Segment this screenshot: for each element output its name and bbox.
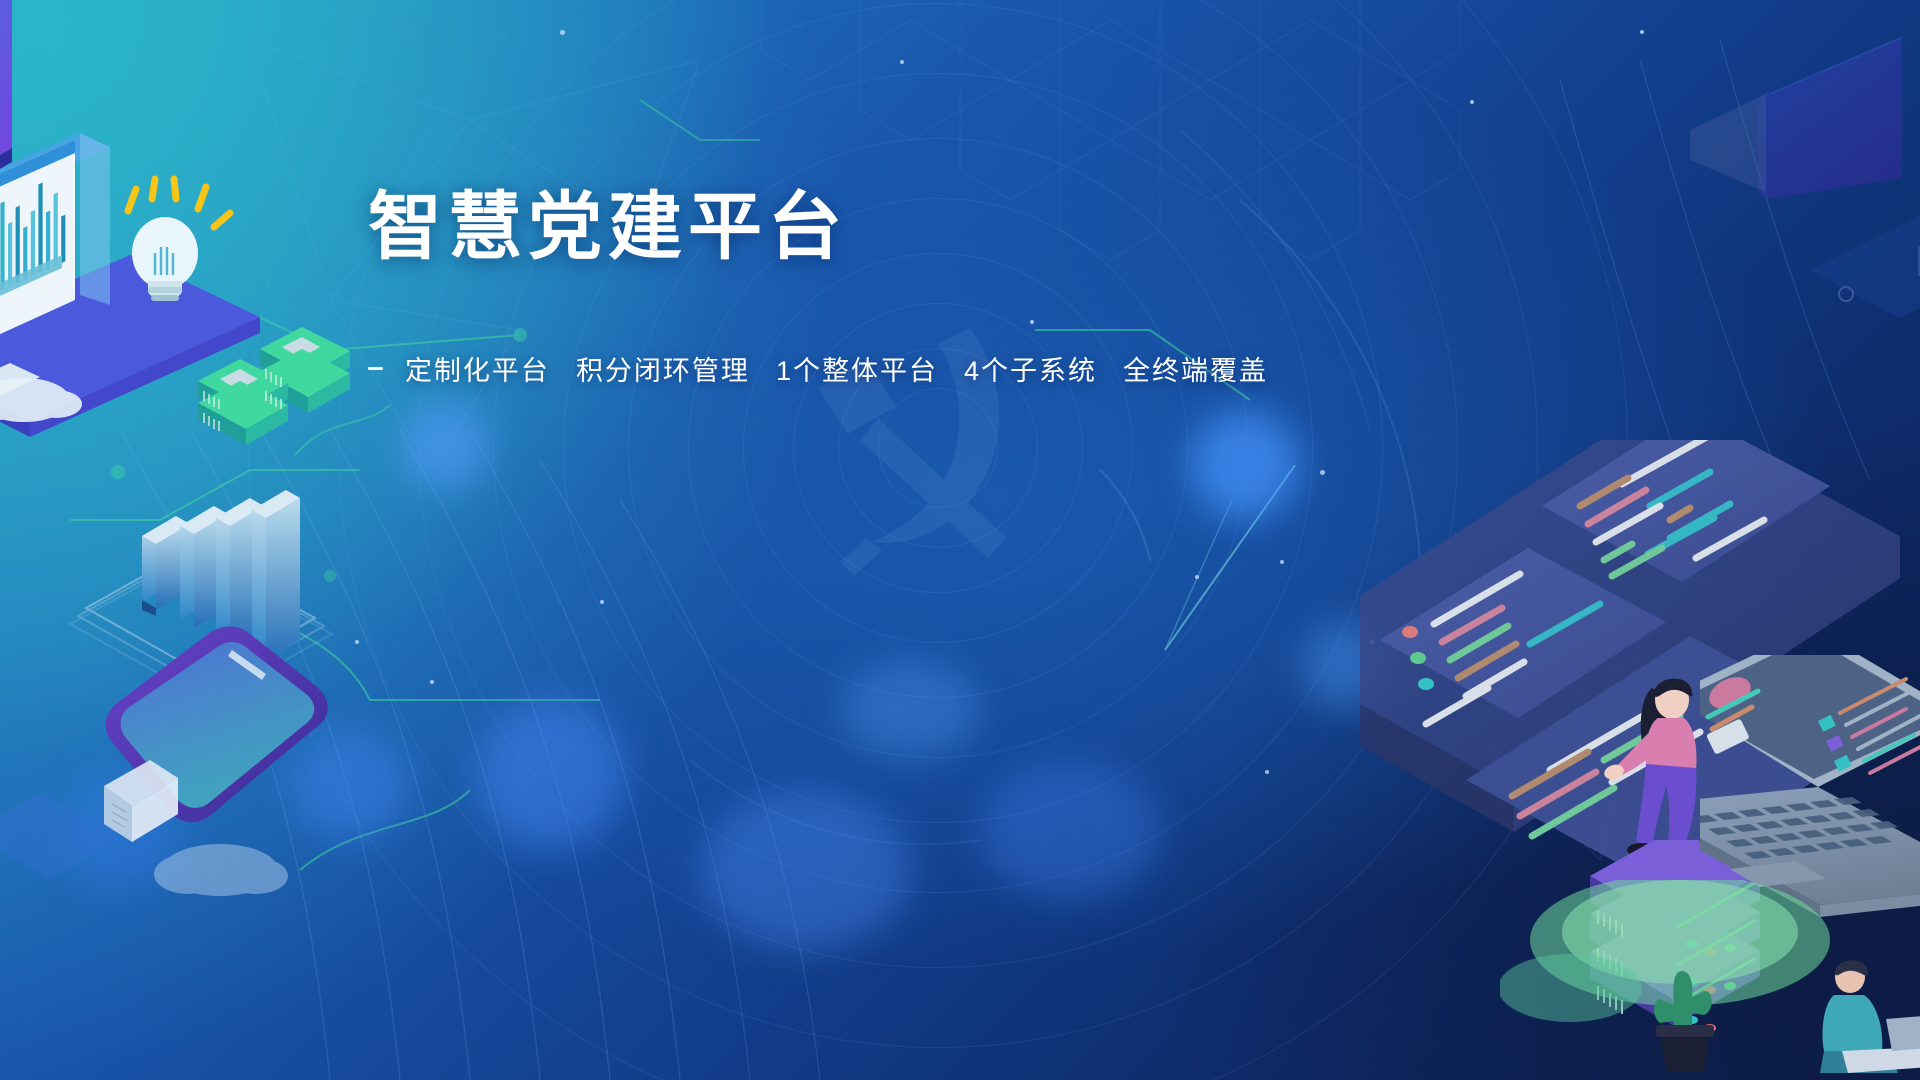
sparkle-dot	[1265, 770, 1269, 774]
chart-bar	[16, 206, 20, 284]
chart-bar	[54, 192, 58, 266]
sparkle-dot	[1320, 470, 1325, 475]
hero-banner: 智慧党建平台 定制化平台积分闭环管理1个整体平台4个子系统全终端覆盖	[0, 0, 1920, 1080]
sparkle-dot	[1470, 100, 1474, 104]
subtitle-segment-1: 积分闭环管理	[576, 356, 750, 386]
dashboard-faded	[1810, 200, 1920, 380]
subtitle-dash	[368, 367, 383, 370]
sparkle-dot	[600, 600, 604, 604]
chart-bar	[38, 183, 42, 274]
sparkle-dot	[1280, 560, 1284, 564]
idea-lightbulb	[110, 175, 240, 325]
chart-bar	[0, 201, 4, 290]
subtitle-segment-3: 4个子系统	[964, 356, 1097, 386]
subtitle-row: 定制化平台积分闭环管理1个整体平台4个子系统全终端覆盖	[368, 349, 1268, 388]
glow-orb	[840, 660, 980, 760]
sparkle-dot	[430, 680, 434, 684]
page-title: 智慧党建平台	[368, 186, 1268, 267]
chart-bar	[31, 210, 35, 277]
hero-text-block: 智慧党建平台 定制化平台积分闭环管理1个整体平台4个子系统全终端覆盖	[368, 186, 1268, 388]
sparkle-dot	[560, 30, 565, 35]
small-device-screen	[0, 0, 90, 190]
sparkle-dot	[1640, 30, 1644, 34]
subtitle-segment-4: 全终端覆盖	[1123, 356, 1268, 386]
cloud-shape	[0, 350, 110, 440]
small-card	[0, 780, 160, 920]
sparkle-dot	[1195, 575, 1199, 579]
potted-cactus	[1630, 955, 1750, 1080]
subtitle-segment-2: 1个整体平台	[776, 356, 938, 386]
subtitle: 定制化平台积分闭环管理1个整体平台4个子系统全终端覆盖	[405, 349, 1268, 388]
sparkle-dot	[900, 60, 904, 64]
glow-orb	[980, 760, 1160, 900]
subtitle-segment-0: 定制化平台	[405, 356, 550, 386]
seated-person-with-laptop	[1790, 955, 1920, 1080]
glow-orb	[476, 700, 626, 850]
glow-orb	[1190, 410, 1300, 520]
glow-orb	[700, 790, 910, 950]
chart-bar	[8, 222, 12, 287]
